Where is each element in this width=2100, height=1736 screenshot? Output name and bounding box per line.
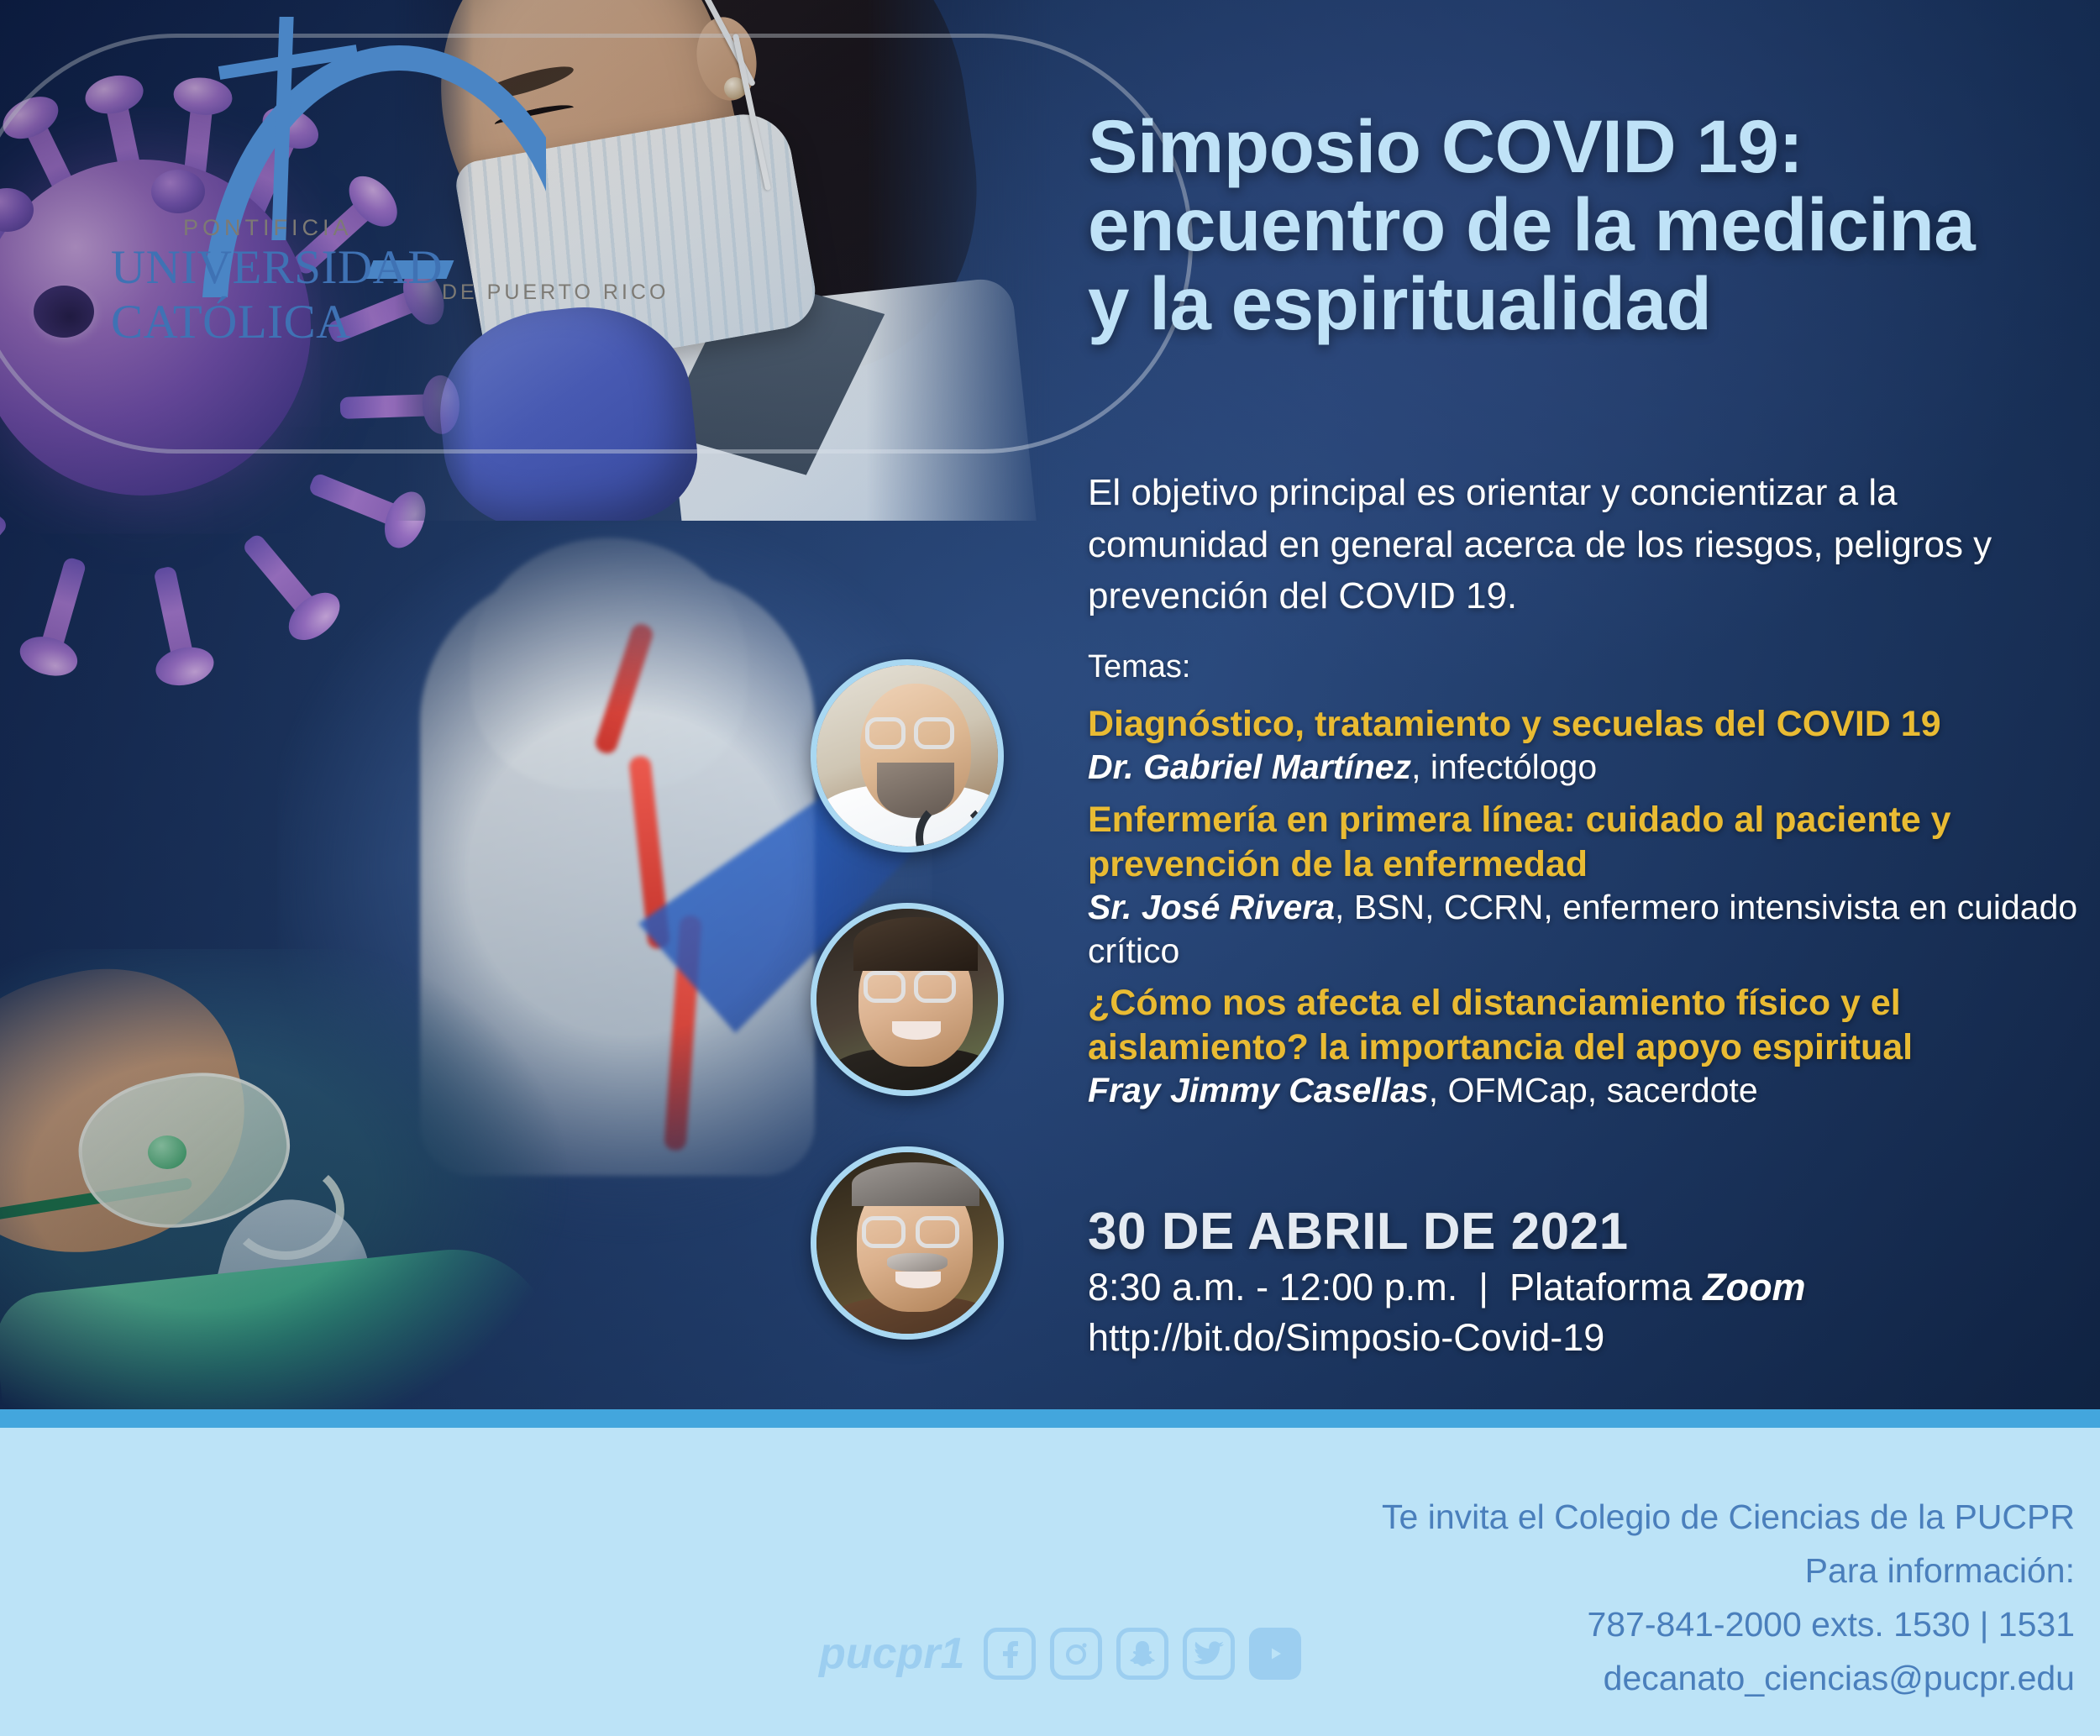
topics-label: Temas: [1088, 648, 1190, 687]
twitter-icon[interactable] [1183, 1628, 1235, 1680]
footer-phone: 787-841-2000 exts. 1530 | 1531 [1382, 1598, 2075, 1652]
title-line-1: Simposio COVID 19: [1088, 104, 1803, 188]
topic-item: Diagnóstico, tratamiento y secuelas del … [1088, 702, 2079, 789]
footer-email[interactable]: decanato_ciencias@pucpr.edu [1382, 1652, 2075, 1706]
eyeglasses-icon [916, 1216, 959, 1248]
footer-contact-info: Te invita el Colegio de Ciencias de la P… [1382, 1491, 2075, 1706]
topics-list: Diagnóstico, tratamiento y secuelas del … [1088, 702, 2079, 1121]
title-line-2: encuentro de la medicina [1088, 182, 1975, 266]
facebook-icon[interactable] [984, 1628, 1036, 1680]
youtube-icon[interactable] [1249, 1628, 1301, 1680]
eyeglasses-icon [865, 717, 906, 749]
eyeglasses-icon [862, 1216, 906, 1248]
pucpr-logo: PONTIFICIA UNIVERSIDAD CATÓLICA DE PUERT… [118, 17, 689, 294]
page-title: Simposio COVID 19: encuentro de la medic… [1088, 108, 2079, 343]
instagram-icon[interactable] [1050, 1628, 1102, 1680]
footer-invite: Te invita el Colegio de Ciencias de la P… [1382, 1491, 2075, 1545]
speaker-name: Fray Jimmy Casellas [1088, 1071, 1429, 1109]
oxygen-mask-valve [148, 1135, 186, 1169]
social-handle: pucpr1 [819, 1628, 964, 1679]
portrait-smile [892, 1021, 941, 1040]
title-line-3: y la espiritualidad [1088, 261, 1711, 345]
topic-title: ¿Cómo nos afecta el distanciamiento físi… [1088, 981, 2079, 1069]
social-media-row: pucpr1 [819, 1628, 1301, 1680]
portrait-hair [853, 917, 978, 971]
eyeglasses-icon [914, 971, 956, 1003]
event-details: 30 DE ABRIL DE 2021 8:30 a.m. - 12:00 p.… [1088, 1203, 2079, 1362]
platform-name: Zoom [1703, 1266, 1805, 1309]
eyeglasses-icon [914, 717, 954, 749]
speaker-name: Dr. Gabriel Martínez [1088, 747, 1411, 786]
portrait-hair [852, 1162, 979, 1206]
footer-divider [0, 1409, 2100, 1428]
topic-title: Enfermería en primera línea: cuidado al … [1088, 798, 2079, 886]
logo-text-pontificia: PONTIFICIA [183, 215, 353, 241]
topic-speaker: Dr. Gabriel Martínez, infectólogo [1088, 746, 2079, 789]
registration-link[interactable]: http://bit.do/Simposio-Covid-19 [1088, 1313, 2079, 1362]
event-time-value: 8:30 a.m. - 12:00 p.m. [1088, 1266, 1457, 1309]
event-date: 30 DE ABRIL DE 2021 [1088, 1203, 2079, 1261]
patient-oxygen-photo [0, 949, 588, 1409]
topic-item: ¿Cómo nos afecta el distanciamiento físi… [1088, 981, 2079, 1113]
virus-pore [34, 286, 94, 338]
topic-speaker: Fray Jimmy Casellas, OFMCap, sacerdote [1088, 1069, 2079, 1113]
platform-label: Plataforma [1509, 1266, 1693, 1309]
objective-paragraph: El objetivo principal es orientar y conc… [1088, 467, 2003, 622]
topic-title: Diagnóstico, tratamiento y secuelas del … [1088, 702, 2079, 746]
speaker-portrait-gabriel-martinez [811, 659, 1004, 852]
speaker-portrait-jimmy-casellas [811, 1146, 1004, 1340]
speaker-role: , infectólogo [1411, 747, 1597, 786]
event-separator: | [1478, 1266, 1488, 1309]
logo-text-de-puerto-rico: DE PUERTO RICO [442, 281, 669, 305]
portrait-smile [895, 1272, 941, 1288]
footer-info-label: Para información: [1382, 1545, 2075, 1598]
content-column: Simposio COVID 19: encuentro de la medic… [1088, 0, 2079, 1409]
speaker-name: Sr. José Rivera [1088, 888, 1335, 926]
eyeglasses-icon [864, 971, 906, 1003]
speaker-role: , OFMCap, sacerdote [1429, 1071, 1758, 1109]
event-time-platform: 8:30 a.m. - 12:00 p.m. | Plataforma Zoom [1088, 1262, 2079, 1312]
portrait-moustache [887, 1253, 948, 1272]
poster-canvas: Simposio COVID 19: encuentro de la medic… [0, 0, 2100, 1736]
topic-speaker: Sr. José Rivera, BSN, CCRN, enfermero in… [1088, 886, 2079, 973]
topic-item: Enfermería en primera línea: cuidado al … [1088, 798, 2079, 973]
snapchat-icon[interactable] [1116, 1628, 1168, 1680]
speaker-portrait-jose-rivera [811, 903, 1004, 1096]
